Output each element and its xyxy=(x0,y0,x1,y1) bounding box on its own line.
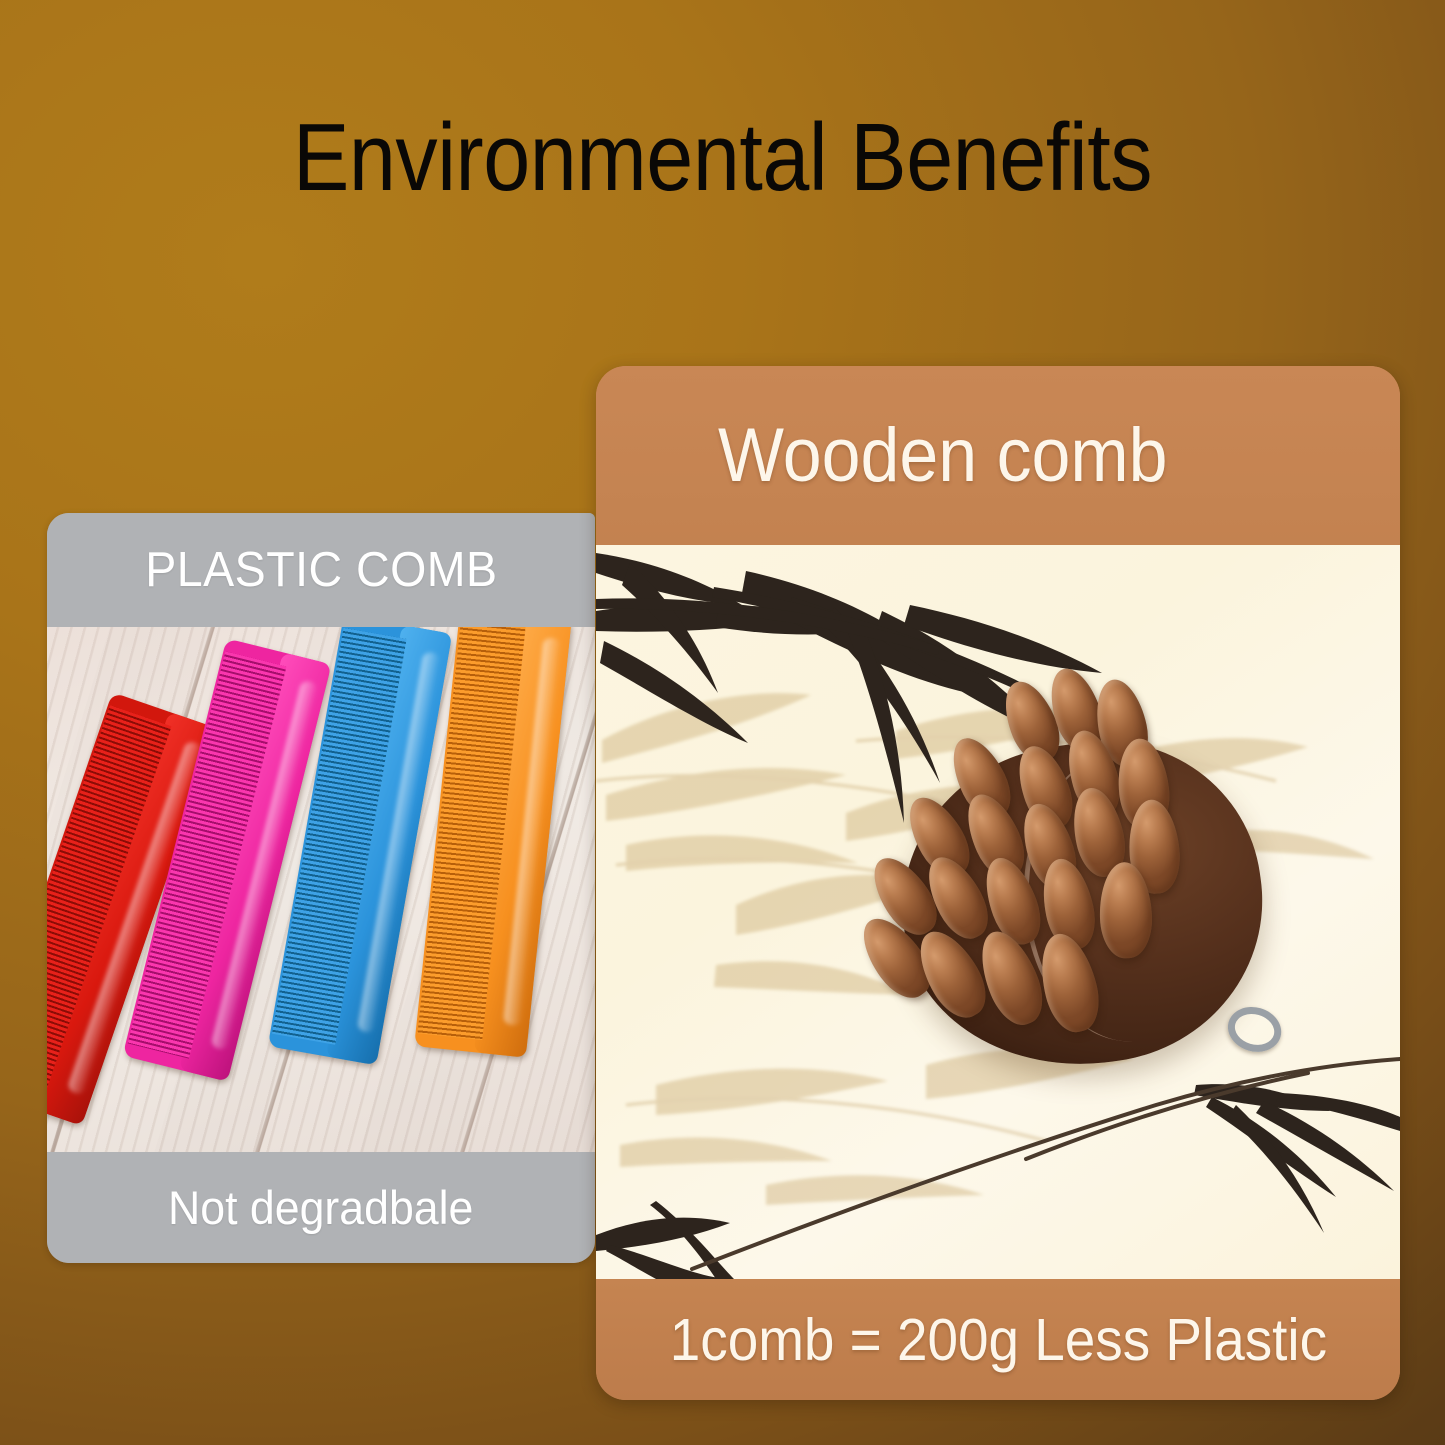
plastic-card-footer-label: Not degradbale xyxy=(168,1180,473,1235)
page-title: Environmental Benefits xyxy=(87,108,1359,209)
plastic-card-footer: Not degradbale xyxy=(47,1152,595,1263)
wooden-massager-brush xyxy=(818,645,1304,1131)
wooden-card-footer-label: 1comb = 200g Less Plastic xyxy=(669,1306,1326,1374)
plastic-comb-photo xyxy=(47,627,595,1152)
plastic-card-header-label: PLASTIC COMB xyxy=(145,542,497,598)
wooden-card-footer: 1comb = 200g Less Plastic xyxy=(596,1279,1400,1400)
wooden-card-header-label: Wooden comb xyxy=(718,412,1168,499)
plastic-comb-card: PLASTIC COMB xyxy=(47,513,595,1263)
brush-hanging-ring xyxy=(1223,1001,1287,1058)
wooden-comb-photo xyxy=(596,545,1400,1279)
wooden-card-header: Wooden comb xyxy=(596,366,1400,545)
poster-canvas: Environmental Benefits PLASTIC COMB xyxy=(0,0,1445,1445)
plastic-card-header: PLASTIC COMB xyxy=(47,513,595,627)
wooden-comb-card: Wooden comb xyxy=(596,366,1400,1400)
